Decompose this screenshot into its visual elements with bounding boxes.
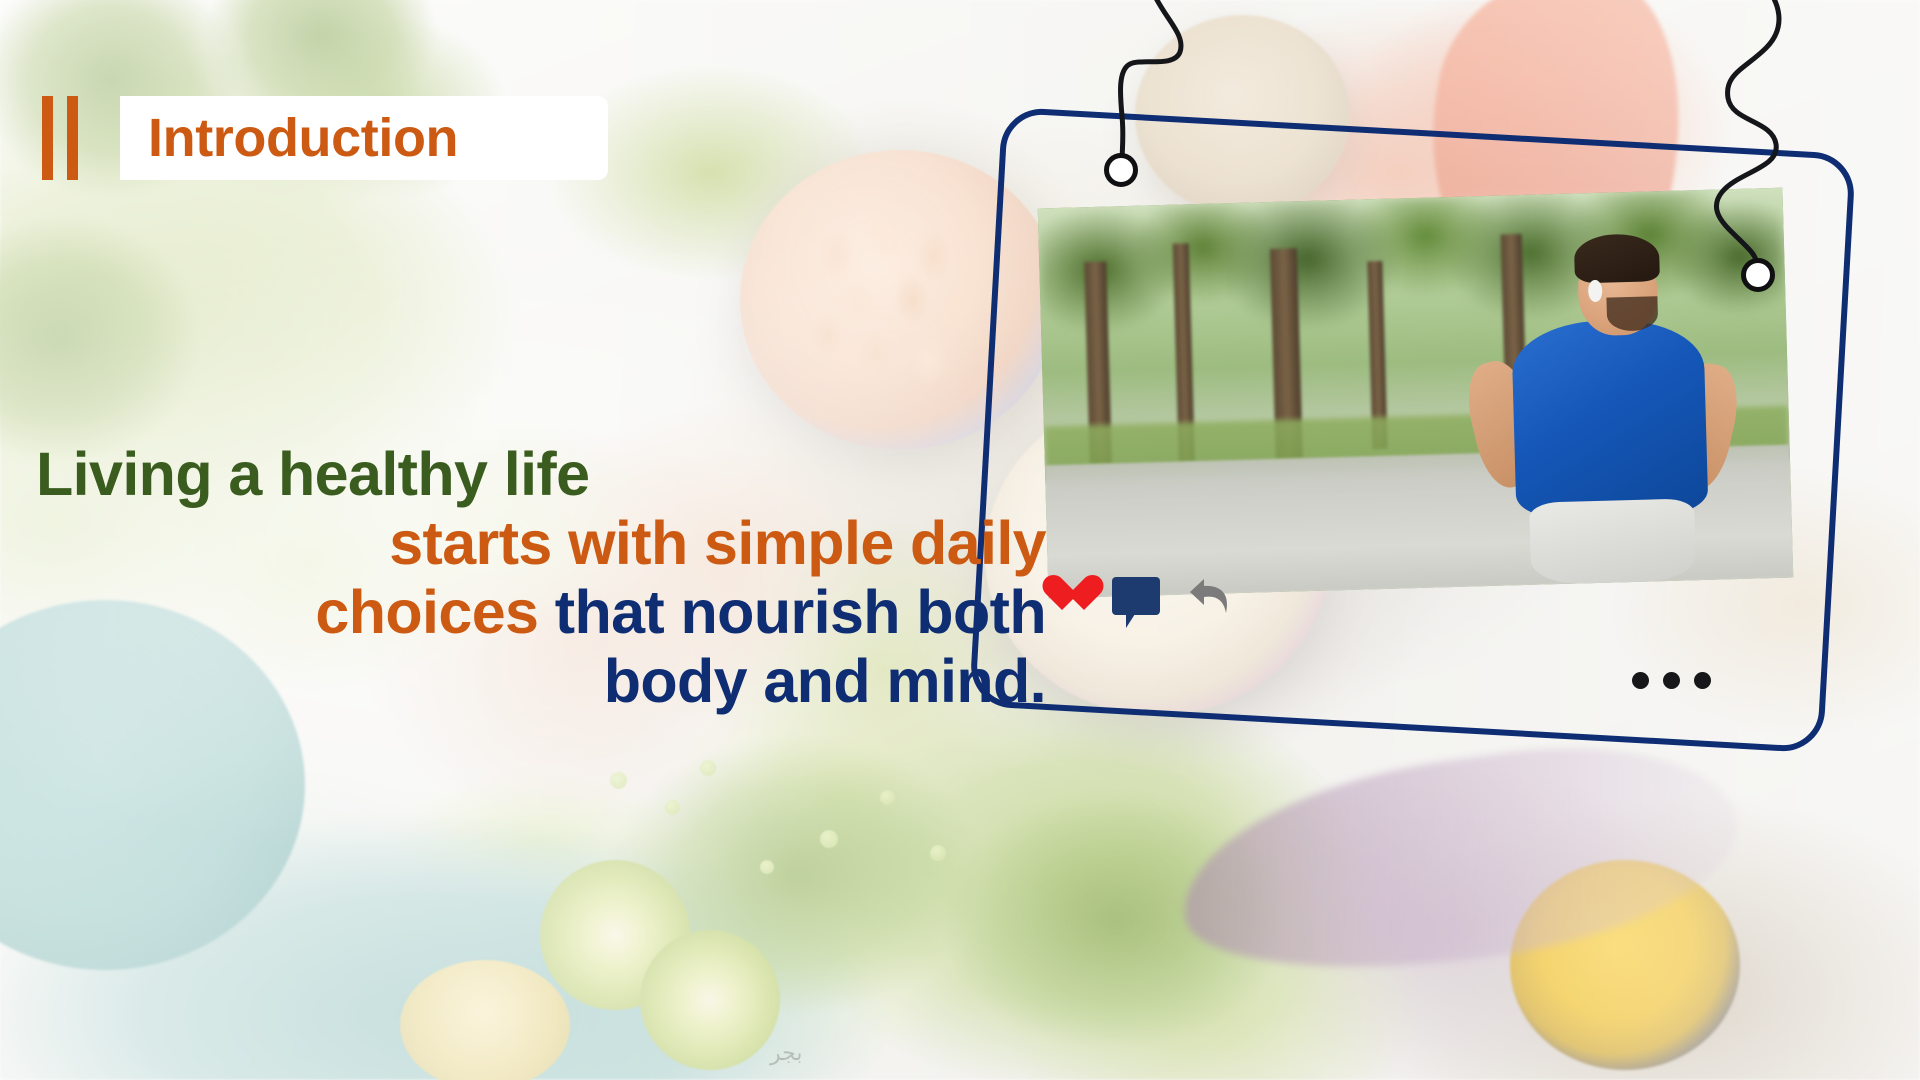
comment-icon[interactable] [1112,577,1160,615]
hanging-wire-right [1700,0,1900,270]
headline-line-3: choices that nourish both [36,578,1046,647]
share-arrow-icon[interactable] [1188,575,1234,617]
headline-line-3-emphasis: choices [315,578,538,646]
accent-bar-2 [67,96,78,180]
headline-line-2: starts with simple daily [36,509,1046,578]
wire-peg-left [1104,153,1138,187]
headline-block: Living a healthy life starts with simple… [36,440,1046,716]
title-accent-bars [0,96,78,180]
post-image[interactable] [1038,188,1794,599]
runner-hair [1573,233,1660,284]
slide-title-block: Introduction [0,96,608,180]
headline-line-1: Living a healthy life [36,440,1046,509]
slide-root: Introduction Living a healthy life start… [0,0,1920,1080]
headline-line-2-text: starts with simple daily [389,509,1046,577]
dot [1694,672,1711,689]
headline-line-4: body and mind. [36,647,1046,716]
hanging-wire-left [1060,0,1280,180]
runner-shorts [1529,498,1696,585]
headline-line-3-text: that nourish both [555,578,1046,646]
headline-line-4-text: body and mind. [604,647,1046,715]
post-actions [1040,575,1234,617]
watermark-text: بجر [770,1040,802,1066]
headline-line-1-text: Living a healthy life [36,440,589,508]
heart-icon[interactable] [1040,576,1084,616]
title-plate: Introduction [120,96,608,180]
dot [1663,672,1680,689]
accent-bar-1 [42,96,53,180]
post-more-menu[interactable] [1632,672,1711,689]
page-title: Introduction [148,111,458,165]
runner-shirt [1511,318,1708,518]
dot [1632,672,1649,689]
wire-peg-right [1741,258,1775,292]
